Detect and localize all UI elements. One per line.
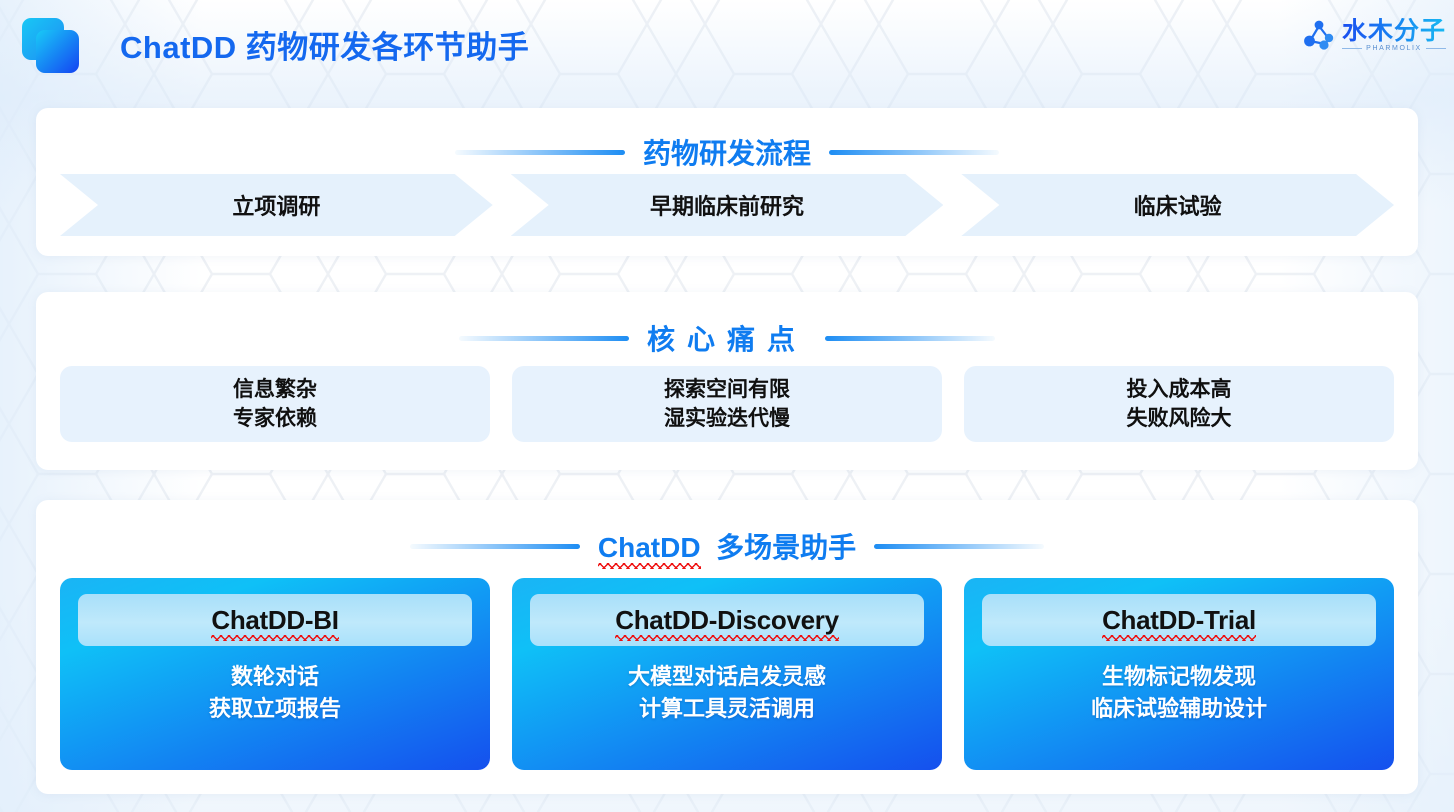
pain-point-line-1: 信息繁杂: [233, 376, 317, 404]
process-step-label: 临床试验: [1134, 189, 1222, 221]
product-desc-line-1: 生物标记物发现: [1102, 662, 1256, 691]
product-desc-line-1: 大模型对话启发灵感: [628, 662, 826, 691]
logo-rule-left: [1342, 48, 1362, 49]
section-title-rest: 多场景助手: [716, 532, 856, 563]
panel-core-pain-points: 核心痛点 信息繁杂 专家依赖 探索空间有限 湿实验迭代慢 投入成本高 失败风险大: [36, 292, 1418, 470]
product-name-pill: ChatDD-BI: [78, 594, 472, 646]
product-card-chatdd-discovery[interactable]: ChatDD-Discovery 大模型对话启发灵感 计算工具灵活调用: [512, 578, 942, 770]
pain-point-card-1[interactable]: 信息繁杂 专家依赖: [60, 366, 490, 442]
heading-rule-left: [410, 544, 580, 549]
process-step-label: 早期临床前研究: [650, 189, 804, 221]
product-desc-line-2: 获取立项报告: [209, 694, 341, 723]
product-description: 生物标记物发现 临床试验辅助设计: [1091, 662, 1267, 724]
header: ChatDD 药物研发各环节助手 水木分子 PHARMOLIX: [0, 0, 1454, 98]
page-title: ChatDD 药物研发各环节助手: [120, 22, 529, 67]
slide-root: ChatDD 药物研发各环节助手 水木分子 PHARMOLIX: [0, 0, 1454, 812]
section-title-process: 药物研发流程: [643, 132, 811, 172]
process-step-row: 立项调研 早期临床前研究 临床试验: [60, 174, 1394, 236]
pain-point-card-3[interactable]: 投入成本高 失败风险大: [964, 366, 1394, 442]
stacked-squares-icon: [22, 18, 84, 74]
spellcheck-squiggle-icon: [598, 563, 701, 569]
heading-rule-right: [829, 150, 999, 155]
spellcheck-squiggle-icon: [211, 635, 338, 641]
product-name: ChatDD-Trial: [1102, 605, 1256, 636]
section-title-products: ChatDD 多场景助手: [598, 526, 856, 566]
spellcheck-squiggle-icon: [615, 635, 839, 641]
heading-rule-right: [825, 336, 995, 341]
process-step-3[interactable]: 临床试验: [961, 174, 1394, 236]
process-step-2[interactable]: 早期临床前研究: [511, 174, 944, 236]
product-description: 大模型对话启发灵感 计算工具灵活调用: [628, 662, 826, 724]
product-card-chatdd-bi[interactable]: ChatDD-BI 数轮对话 获取立项报告: [60, 578, 490, 770]
product-desc-line-2: 计算工具灵活调用: [639, 694, 815, 723]
section-heading-pain-points: 核心痛点: [36, 318, 1418, 358]
product-desc-line-2: 临床试验辅助设计: [1091, 694, 1267, 723]
panel-drug-development-process: 药物研发流程 立项调研 早期临床前研究 临床试验: [36, 108, 1418, 256]
product-name: ChatDD-Discovery: [615, 605, 839, 636]
product-desc-line-1: 数轮对话: [231, 662, 319, 691]
product-name-pill: ChatDD-Discovery: [530, 594, 924, 646]
molecule-icon: [1303, 19, 1337, 51]
heading-rule-right: [874, 544, 1044, 549]
section-heading-process: 药物研发流程: [36, 132, 1418, 172]
heading-rule-left: [459, 336, 629, 341]
pain-point-card-row: 信息繁杂 专家依赖 探索空间有限 湿实验迭代慢 投入成本高 失败风险大: [60, 366, 1394, 442]
process-step-1[interactable]: 立项调研: [60, 174, 493, 236]
product-description: 数轮对话 获取立项报告: [209, 662, 341, 724]
corp-logo-en-name: PHARMOLIX: [1366, 45, 1422, 52]
section-title-brand: ChatDD: [598, 532, 701, 563]
section-heading-products: ChatDD 多场景助手: [36, 526, 1418, 566]
pain-point-line-2: 湿实验迭代慢: [664, 405, 790, 433]
heading-rule-left: [455, 150, 625, 155]
pain-point-line-1: 投入成本高: [1127, 376, 1232, 404]
pain-point-line-2: 失败风险大: [1127, 405, 1232, 433]
product-name: ChatDD-BI: [211, 605, 338, 636]
spellcheck-squiggle-icon: [1102, 635, 1256, 641]
panel-chatdd-assistants: ChatDD 多场景助手 ChatDD-BI 数轮对话 获取立项报告 ChatD…: [36, 500, 1418, 794]
product-card-row: ChatDD-BI 数轮对话 获取立项报告 ChatDD-Discovery 大…: [60, 578, 1394, 770]
section-title-pain-points: 核心痛点: [647, 318, 807, 358]
product-name-pill: ChatDD-Trial: [982, 594, 1376, 646]
process-step-label: 立项调研: [232, 189, 320, 221]
corporate-logo: 水木分子 PHARMOLIX: [1303, 18, 1446, 52]
pain-point-line-1: 探索空间有限: [664, 376, 790, 404]
logo-rule-right: [1426, 48, 1446, 49]
product-card-chatdd-trial[interactable]: ChatDD-Trial 生物标记物发现 临床试验辅助设计: [964, 578, 1394, 770]
corp-logo-cn-name: 水木分子: [1342, 18, 1446, 44]
pain-point-card-2[interactable]: 探索空间有限 湿实验迭代慢: [512, 366, 942, 442]
pain-point-line-2: 专家依赖: [233, 405, 317, 433]
